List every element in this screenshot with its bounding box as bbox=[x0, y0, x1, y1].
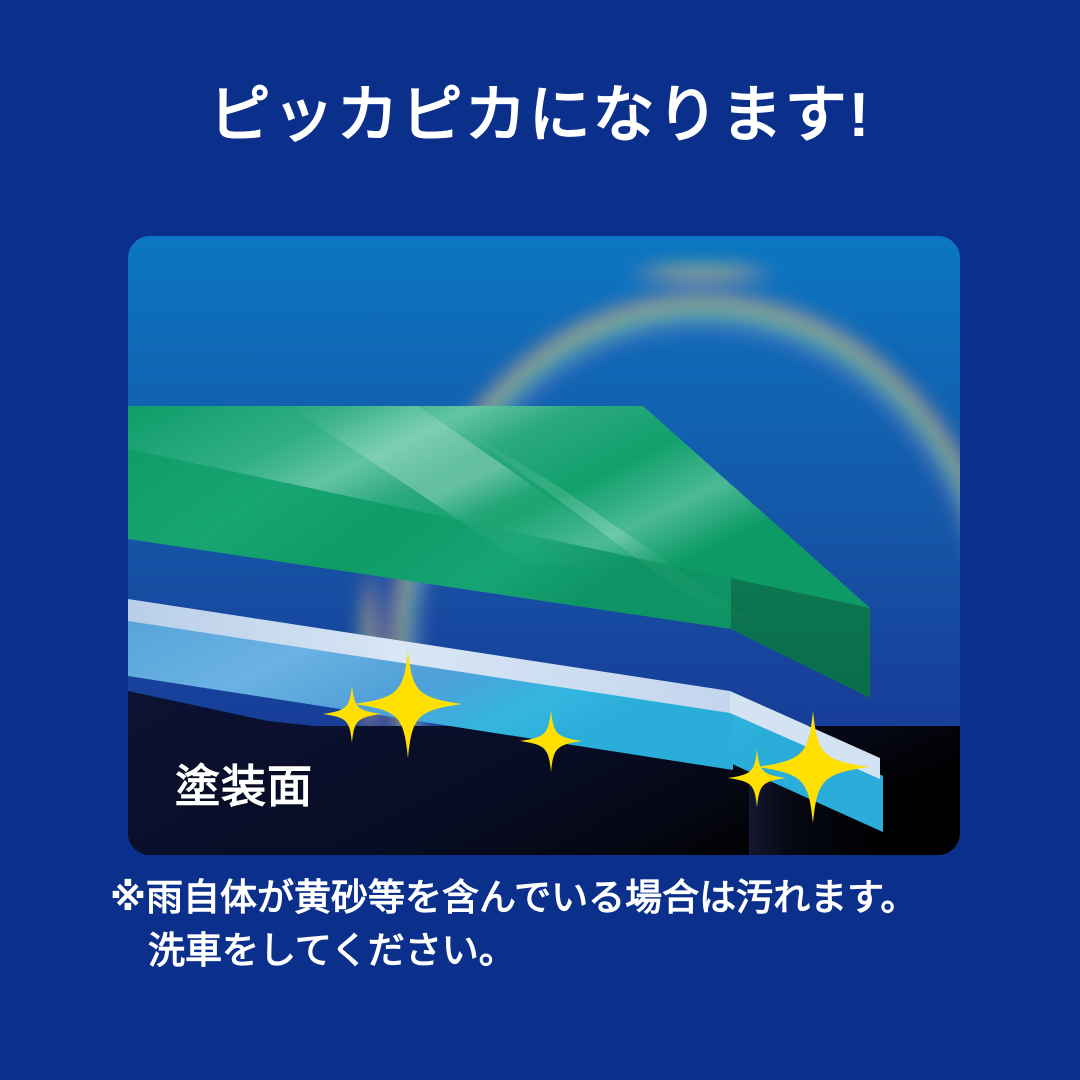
illustration-card: 塗装面 bbox=[128, 236, 960, 855]
sparkle-small-middle-icon bbox=[520, 710, 582, 772]
sparkle-large-left-icon bbox=[354, 650, 462, 758]
sparkle-large-right-icon bbox=[757, 711, 869, 823]
painted-surface-label: 塗装面 bbox=[175, 750, 313, 815]
footnote-line-2: 洗車をしてください。 bbox=[110, 925, 990, 978]
footnote-line-1: ※雨自体が黄砂等を含んでいる場合は汚れます。 bbox=[110, 877, 917, 918]
footnote: ※雨自体が黄砂等を含んでいる場合は汚れます。 洗車をしてください。 bbox=[110, 872, 990, 977]
page-title: ピッカピカになります! bbox=[0, 82, 1080, 150]
